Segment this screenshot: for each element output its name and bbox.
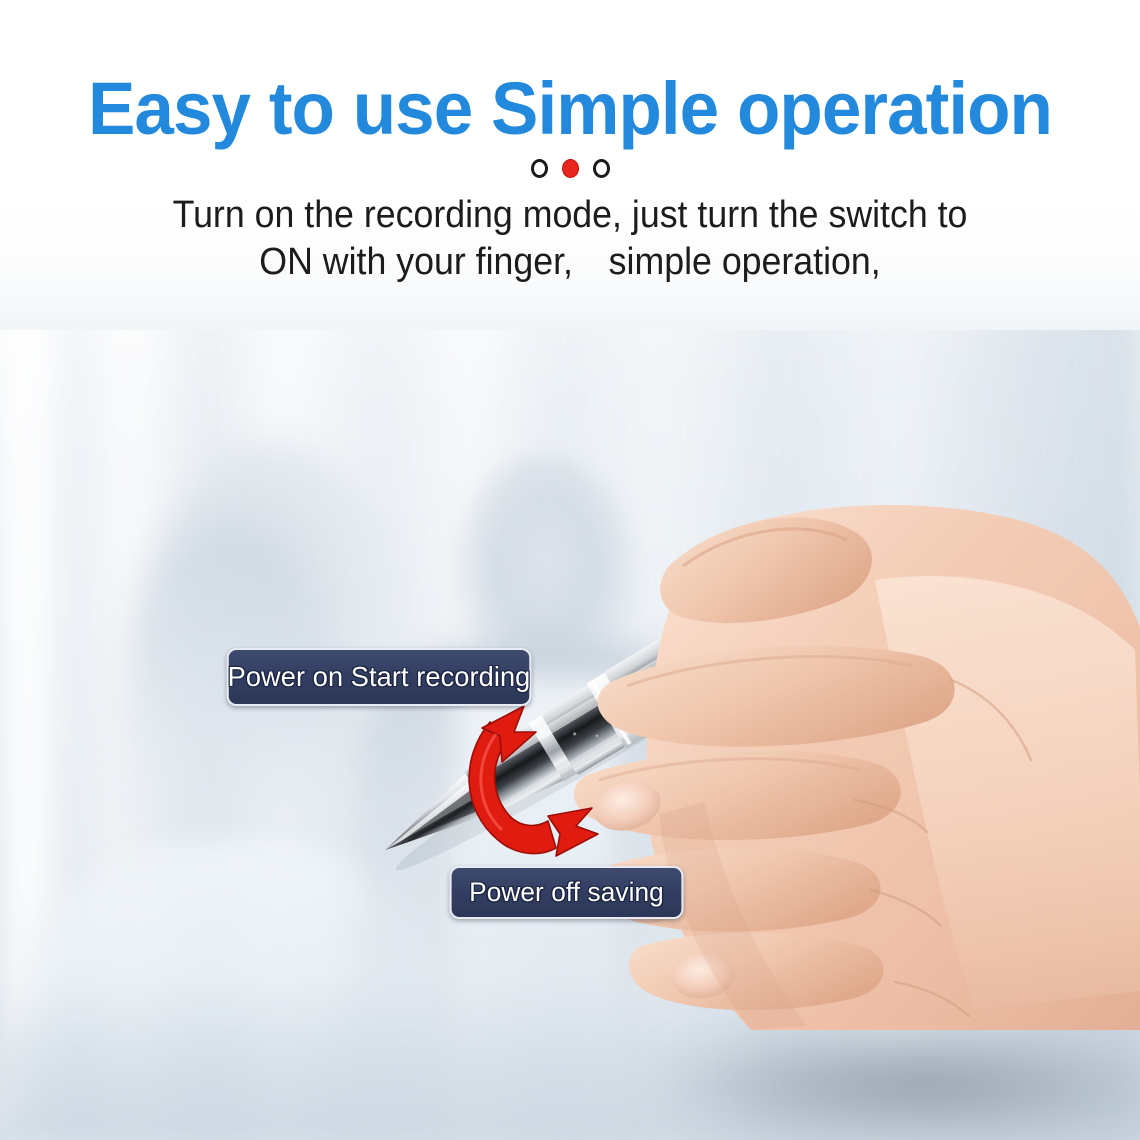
- header-band: Easy to use Simple operation Turn on the…: [0, 0, 1140, 330]
- slide-indicator-dots: [0, 159, 1140, 178]
- callout-power-off-label: Power off saving: [469, 877, 664, 908]
- page-subtitle: Turn on the recording mode, just turn th…: [34, 192, 1106, 286]
- page-subtitle-line-1: Turn on the recording mode, just turn th…: [34, 192, 1106, 239]
- dot-1-icon[interactable]: [531, 159, 548, 178]
- dot-3-icon[interactable]: [593, 159, 610, 178]
- page-subtitle-line-2: ON with your finger, simple operation,: [34, 239, 1106, 286]
- page-title: Easy to use Simple operation: [23, 68, 1117, 150]
- callout-power-on-label: Power on Start recording: [228, 661, 531, 693]
- product-marketing-image: Power on Start recording Power off savin…: [0, 0, 1140, 1140]
- bottom-shadow-blur: [660, 1030, 1140, 1140]
- dot-2-icon[interactable]: [562, 159, 579, 178]
- callout-power-off: Power off saving: [450, 866, 684, 919]
- twist-rotation-arrow: [452, 688, 622, 863]
- callout-power-on: Power on Start recording: [227, 648, 532, 706]
- hand-holding-pen: [555, 470, 1140, 1030]
